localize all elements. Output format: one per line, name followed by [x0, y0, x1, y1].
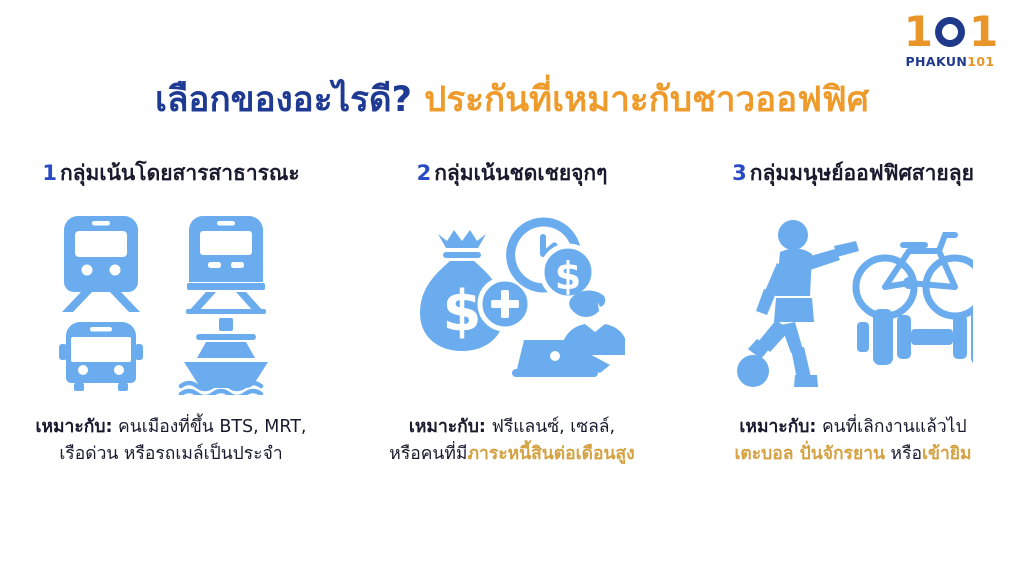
- category-column-1: 1กลุ่มเน้นโดยสารสาธารณะ: [1, 158, 342, 468]
- train-icon: [186, 216, 266, 314]
- caption-label-1: เหมาะกับ:: [36, 417, 113, 437]
- category-column-2: 2กลุ่มเน้นชดเชยจุกๆ $: [342, 158, 683, 468]
- caption-text-3: คนที่เลิกงานแล้วไป: [816, 417, 966, 437]
- plus-icon: [480, 279, 530, 329]
- svg-text:$: $: [442, 279, 481, 344]
- category-columns: 1กลุ่มเน้นโดยสารสาธารณะ: [0, 158, 1024, 468]
- caption-text-2b: หรือคนที่มี: [389, 444, 467, 464]
- logo-ring-icon: [932, 14, 968, 50]
- caption-highlight-3a: เตะบอล ปั่นจักรยาน: [734, 444, 885, 464]
- caption-line-1b: เรือด่วน หรือรถเมล์เป็นประจำ: [6, 441, 336, 468]
- page-title-primary: เลือกของอะไรดี?: [155, 80, 412, 120]
- column-heading-label-3: กลุ่มมนุษย์ออฟฟิศสายลุย: [750, 161, 974, 185]
- caption-line-3b: เตะบอล ปั่นจักรยาน หรือเข้ายิม: [688, 441, 1018, 468]
- caption-3: เหมาะกับ: คนที่เลิกงานแล้วไป เตะบอล ปั่น…: [688, 414, 1018, 468]
- logo-wordmark: PHAKUN101: [894, 56, 1006, 69]
- caption-text-2: ฟรีแลนซ์, เซลล์,: [486, 417, 615, 437]
- logo-mark: 1 1: [894, 12, 1006, 52]
- svg-text:$: $: [554, 254, 580, 298]
- logo-digit-right: 1: [969, 13, 996, 51]
- caption-label-3: เหมาะกับ:: [739, 417, 816, 437]
- page-title-accent: ประกันที่เหมาะกับชาวออฟฟิศ: [424, 80, 869, 120]
- caption-line-2a: เหมาะกับ: ฟรีแลนซ์, เซลล์,: [347, 414, 677, 441]
- column-heading-1: 1กลุ่มเน้นโดยสารสาธารณะ: [42, 158, 299, 188]
- skytrain-icon: [62, 216, 140, 312]
- caption-line-2b: หรือคนที่มีภาระหนี้สินต่อเดือนสูง: [347, 441, 677, 468]
- column-number-2: 2: [417, 161, 432, 185]
- column-heading-3: 3กลุ่มมนุษย์ออฟฟิศสายลุย: [732, 158, 974, 188]
- bus-icon: [59, 322, 143, 391]
- caption-label-2: เหมาะกับ:: [409, 417, 486, 437]
- caption-1: เหมาะกับ: คนเมืองที่ขึ้น BTS, MRT, เรือด…: [6, 414, 336, 468]
- column-heading-label-2: กลุ่มเน้นชดเชยจุกๆ: [434, 161, 607, 185]
- category-column-3: 3กลุ่มมนุษย์ออฟฟิศสายลุย: [683, 158, 1024, 468]
- caption-2: เหมาะกับ: ฟรีแลนซ์, เซลล์, หรือคนที่มีภา…: [347, 414, 677, 468]
- caption-line-3a: เหมาะกับ: คนที่เลิกงานแล้วไป: [688, 414, 1018, 441]
- column-heading-2: 2กลุ่มเน้นชดเชยจุกๆ: [417, 158, 608, 188]
- caption-line-1a: เหมาะกับ: คนเมืองที่ขึ้น BTS, MRT,: [6, 414, 336, 441]
- icon-group-1: [26, 202, 316, 402]
- column-heading-label-1: กลุ่มเน้นโดยสารสาธารณะ: [60, 161, 300, 185]
- logo-digit-left: 1: [904, 13, 931, 51]
- caption-text-1: คนเมืองที่ขึ้น BTS, MRT,: [112, 417, 306, 437]
- dollar-coin-icon: $: [542, 246, 594, 298]
- dumbbell-icon: [857, 309, 973, 365]
- icon-group-3: [708, 202, 998, 402]
- column-number-3: 3: [732, 161, 747, 185]
- bicycle-icon: [856, 235, 973, 316]
- ferry-icon: [181, 318, 268, 395]
- caption-highlight-3b: เข้ายิม: [922, 444, 972, 464]
- soccer-player-icon: [737, 220, 859, 387]
- logo-wordmark-number: 101: [967, 54, 994, 69]
- column-number-1: 1: [42, 161, 57, 185]
- page-title: เลือกของอะไรดี? ประกันที่เหมาะกับชาวออฟฟ…: [0, 78, 1024, 122]
- icon-group-2: $: [367, 202, 657, 402]
- caption-text-3b: หรือ: [885, 444, 922, 464]
- logo-wordmark-text: PHAKUN: [905, 54, 967, 69]
- brand-logo: 1 1 PHAKUN101: [894, 12, 1006, 69]
- caption-highlight-2: ภาระหนี้สินต่อเดือนสูง: [467, 444, 634, 464]
